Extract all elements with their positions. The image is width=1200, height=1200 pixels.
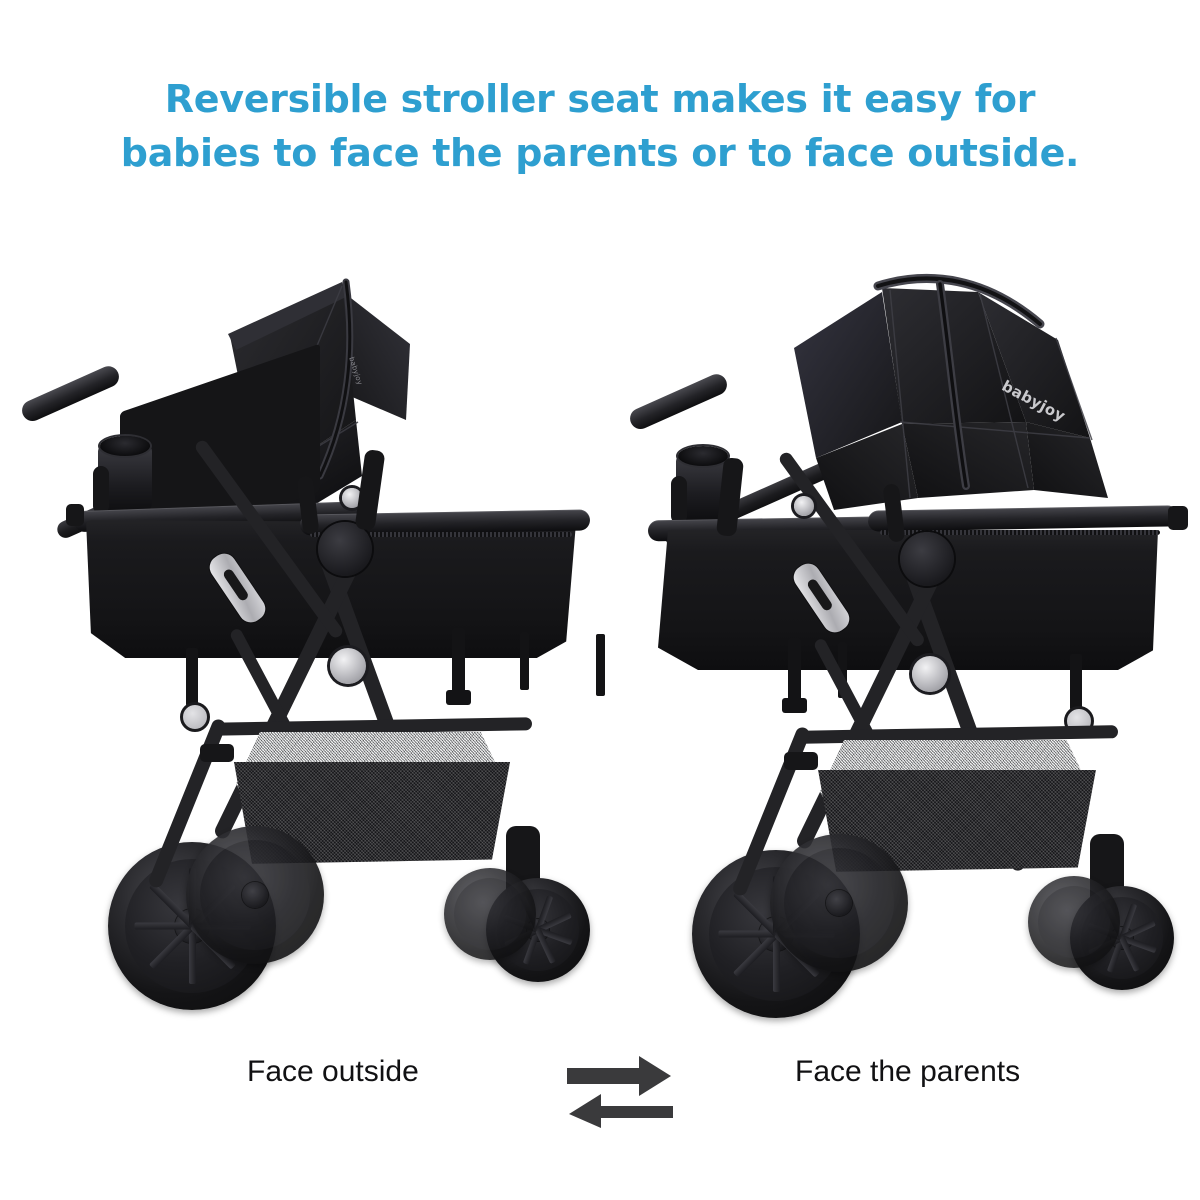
harness-strap: [782, 698, 807, 713]
stroller-face-outside: babyjoy: [0, 250, 600, 1040]
product-stage: babyjoy: [0, 250, 1200, 1040]
strap-ring: [180, 702, 210, 732]
frame-hinge-disc: [912, 656, 948, 692]
hanging-strap: [1070, 654, 1082, 710]
caption-face-outside: Face outside: [247, 1052, 419, 1092]
rear-wheel-far: [186, 826, 324, 964]
cup-holder-rim: [100, 436, 150, 456]
frame-hinge-hub: [318, 522, 372, 576]
bumper-bar-end-cap: [66, 504, 84, 526]
footer-captions: Face outside Face the parents: [0, 1052, 1200, 1122]
frame-hinge-hub: [900, 532, 954, 586]
bassinet-rail-end-cap: [1168, 506, 1188, 530]
headline: Reversible stroller seat makes it easy f…: [0, 72, 1200, 180]
reverse-arrows-icon: [565, 1054, 675, 1130]
cup-holder-rim: [678, 446, 728, 466]
cup-holder-clamp: [93, 466, 109, 514]
headline-line-2: babies to face the parents or to face ou…: [0, 126, 1200, 180]
harness-strap: [788, 638, 801, 700]
front-wheel-far: [1028, 876, 1120, 968]
brake-pedal: [784, 752, 818, 770]
frame-hinge-disc-small: [794, 496, 814, 516]
rear-wheel-far: [770, 834, 908, 972]
front-wheel-far: [444, 868, 536, 960]
handlebar-grip: [627, 371, 731, 432]
headline-line-1: Reversible stroller seat makes it easy f…: [0, 72, 1200, 126]
cup-holder-clamp: [671, 476, 687, 524]
harness-strap: [452, 628, 465, 692]
harness-strap: [446, 690, 471, 705]
harness-strap: [520, 632, 529, 690]
caption-face-the-parents: Face the parents: [795, 1052, 1020, 1092]
hanging-strap: [186, 648, 198, 706]
handlebar-grip: [19, 363, 123, 424]
stroller-face-parents: babyjoy: [600, 250, 1200, 1040]
brake-pedal: [200, 744, 234, 762]
frame-hinge-disc: [330, 648, 366, 684]
